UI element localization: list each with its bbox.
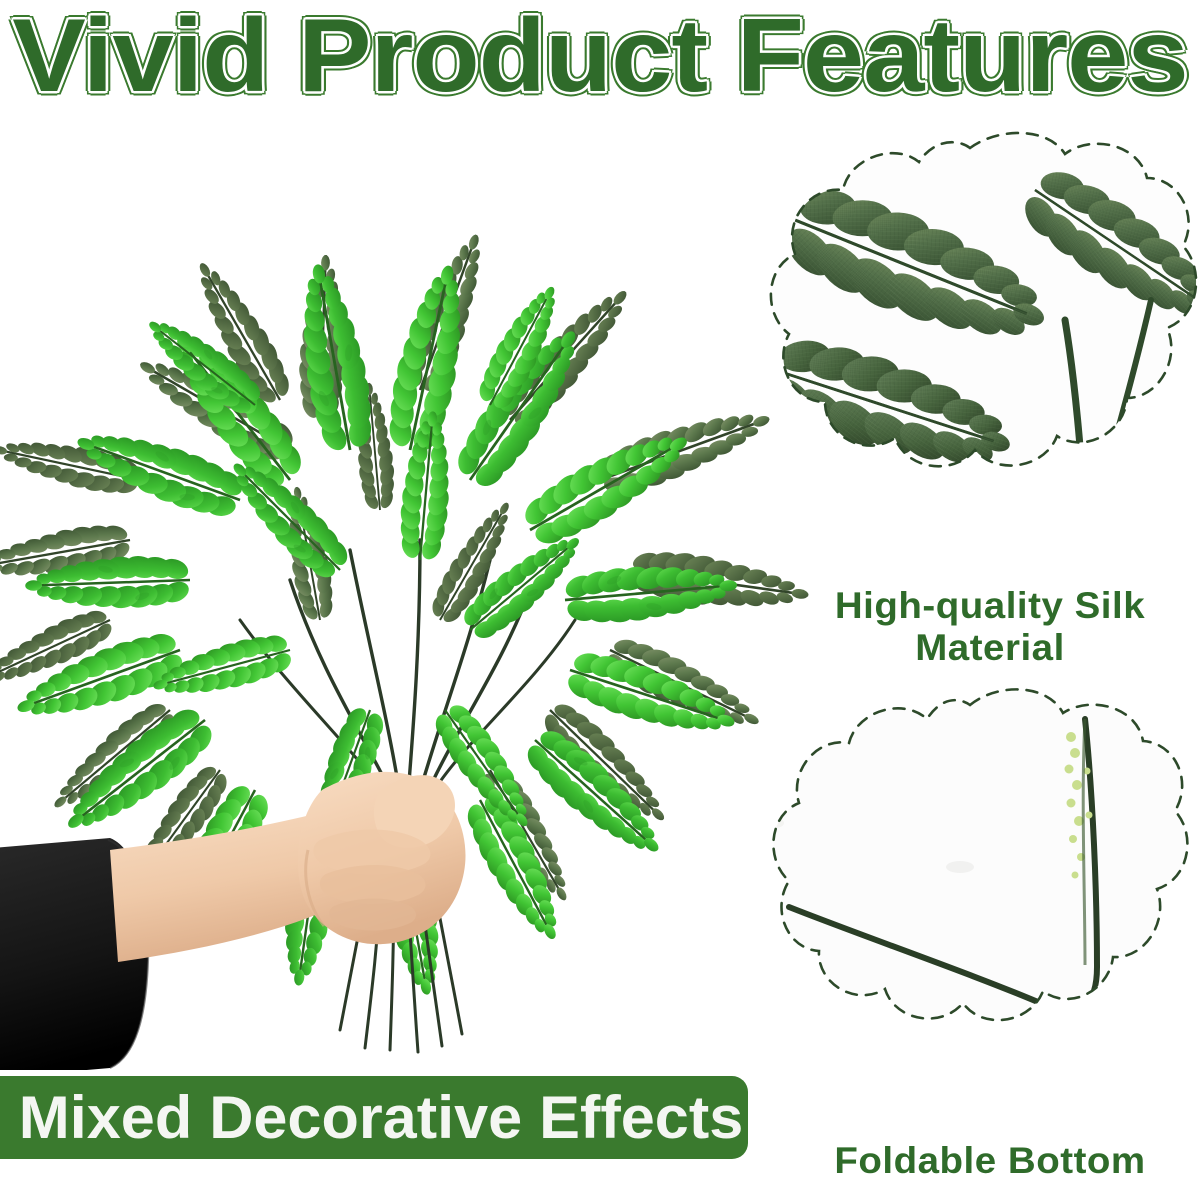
feature-callout-silk bbox=[735, 120, 1200, 590]
bottom-banner: Mixed Decorative Effects bbox=[0, 1076, 748, 1159]
page-title: Vivid Product Features bbox=[0, 2, 1200, 110]
caption-silk-line1: High-quality Silk bbox=[782, 585, 1198, 627]
banner-label: Mixed Decorative Effects bbox=[0, 1088, 743, 1148]
caption-silk-line2: Material bbox=[782, 627, 1198, 669]
caption-foldable-bottom: Foldable Bottom bbox=[782, 1140, 1198, 1182]
silk-leaf-photo bbox=[735, 120, 1200, 590]
caption-high-quality-silk: High-quality Silk Material bbox=[782, 585, 1198, 669]
poster-canvas: Vivid Product Features bbox=[0, 0, 1200, 1200]
hero-product-photo bbox=[0, 150, 810, 1070]
feature-callout-foldable bbox=[745, 675, 1195, 1125]
foldable-stem-photo bbox=[745, 675, 1195, 1125]
